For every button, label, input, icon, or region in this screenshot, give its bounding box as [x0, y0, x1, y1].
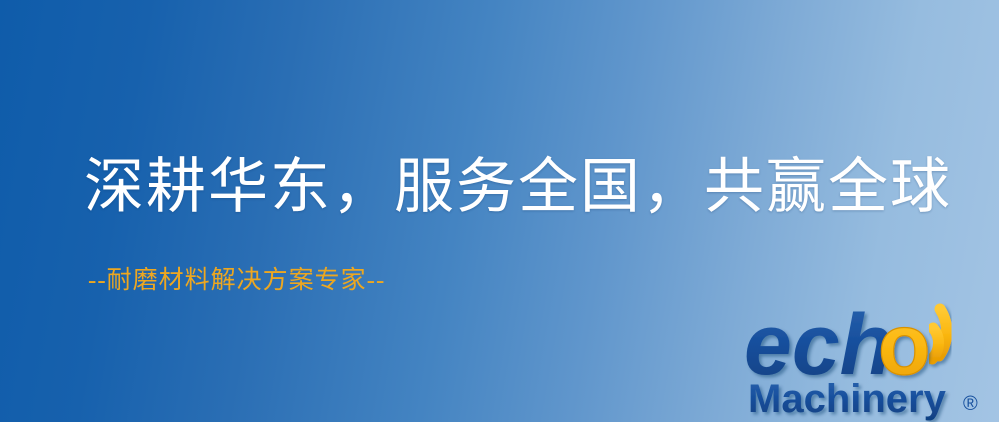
- echo-machinery-logo[interactable]: ech o Machinery ®: [744, 296, 999, 422]
- registered-mark-icon: ®: [963, 393, 978, 415]
- banner-subtitle: --耐磨材料解决方案专家--: [88, 266, 385, 296]
- signal-arcs-icon: [932, 309, 947, 359]
- banner-headline: 深耕华东，服务全国，共赢全球: [84, 152, 952, 223]
- logo-subtext-machinery: Machinery: [748, 377, 947, 421]
- hero-banner: 深耕华东，服务全国，共赢全球 --耐磨材料解决方案专家--: [0, 0, 999, 422]
